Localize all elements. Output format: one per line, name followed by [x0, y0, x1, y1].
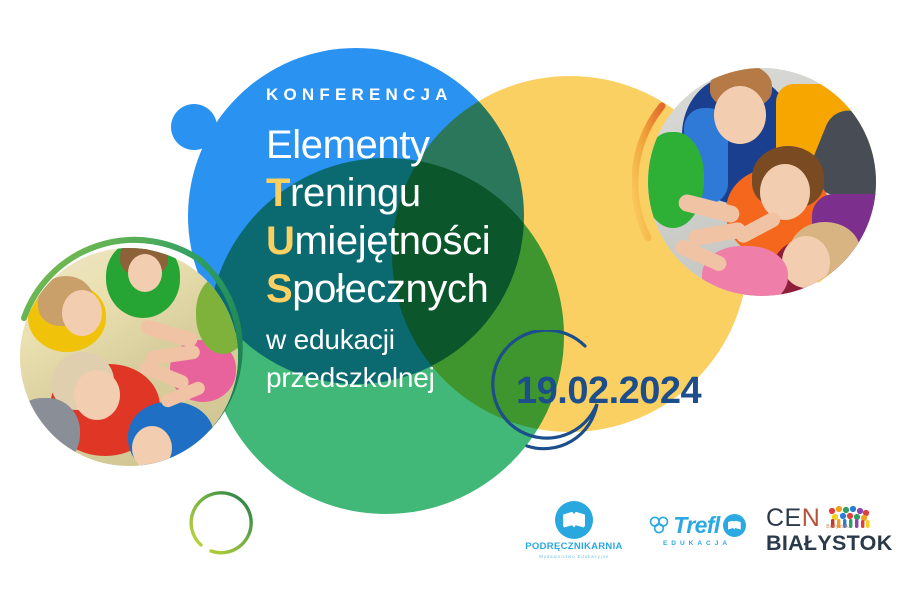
- title-line-2: Treningu: [266, 169, 576, 217]
- logo-trefl-tagline: EDUKACJA: [639, 540, 755, 547]
- title-line-2-highlight: T: [266, 171, 290, 215]
- title-line-1-rest: Elementy: [266, 123, 430, 167]
- event-date: 19.02.2024: [516, 370, 701, 413]
- title-line-2-rest: reningu: [290, 171, 421, 215]
- book-glyph-icon: [563, 512, 585, 528]
- logo-trefl-edukacja[interactable]: Trefl EDUKACJA: [639, 514, 755, 547]
- poster-text-block: KONFERENCJA Elementy Treningu Umiejętnoś…: [266, 86, 576, 397]
- title-line-4-rest: połecznych: [292, 267, 488, 311]
- title-line-1: Elementy: [266, 121, 576, 169]
- logo-cen-name-part-1: CE: [766, 504, 802, 532]
- logo-cen-tagline: Białystok: [826, 524, 849, 530]
- logo-cen-bialystok[interactable]: CEN: [766, 505, 888, 555]
- kicker-konferencja: KONFERENCJA: [266, 86, 576, 103]
- title-line-4-highlight: S: [266, 267, 292, 311]
- title-line-3-rest: miejętności: [295, 219, 491, 263]
- subtitle-line-1: w edukacji: [266, 321, 576, 359]
- logo-cen-name: CEN: [766, 506, 820, 531]
- conference-poster: KONFERENCJA Elementy Treningu Umiejętnoś…: [0, 0, 900, 600]
- logo-cen-name-part-2: N: [802, 504, 821, 532]
- title-line-3-highlight: U: [266, 219, 295, 263]
- logo-podrecznikarnia-tagline: Wydawnictwo Edukacyjne: [520, 554, 628, 559]
- title-line-3: Umiejętności: [266, 217, 576, 265]
- photo-left-image: [20, 248, 238, 466]
- blue-dot-decoration: [171, 104, 217, 150]
- title-line-4: Społecznych: [266, 265, 576, 313]
- logo-trefl-name: Trefl: [673, 514, 719, 537]
- clover-icon: [648, 515, 670, 535]
- sponsor-logo-strip: PODRĘCZNIKARNIA Wydawnictwo Edukacyjne T…: [520, 494, 888, 566]
- logo-cen-top-row: CEN: [766, 505, 888, 531]
- logo-podrecznikarnia[interactable]: PODRĘCZNIKARNIA Wydawnictwo Edukacyjne: [520, 501, 628, 559]
- open-book-circle-icon: [555, 501, 593, 539]
- trefl-book-badge-icon: [723, 514, 746, 537]
- logo-podrecznikarnia-name: PODRĘCZNIKARNIA: [520, 542, 628, 552]
- photo-circle-right: [648, 68, 876, 296]
- photo-right-image: [648, 68, 876, 296]
- logo-trefl-row: Trefl: [639, 514, 755, 537]
- photo-circle-left: [20, 248, 238, 466]
- colorful-people-cluster-icon: Białystok: [824, 505, 874, 531]
- logo-cen-city: BIAŁYSTOK: [766, 532, 888, 555]
